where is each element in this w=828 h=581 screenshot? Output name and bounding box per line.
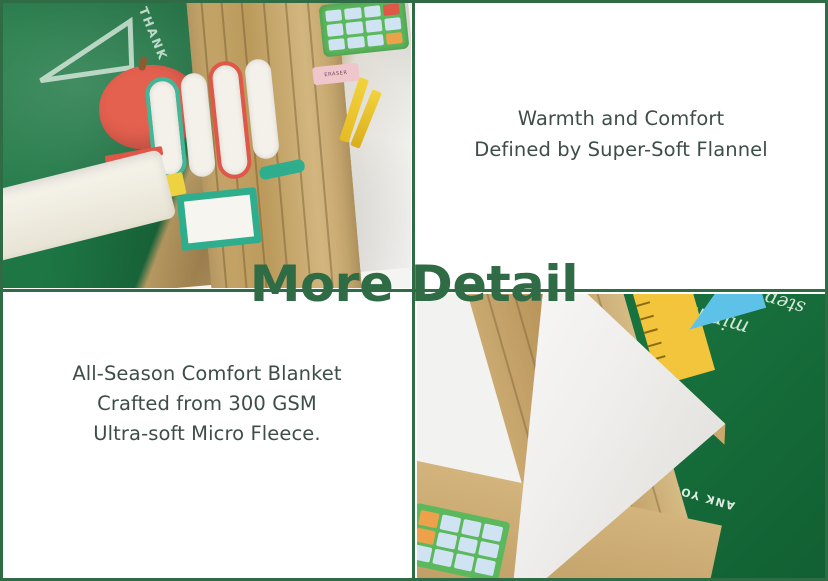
calculator-graphic [319, 3, 410, 57]
blanket-flatlay-photo: THANK ERASER [3, 3, 411, 288]
product-detail-poster: THANK ERASER [0, 0, 828, 581]
divider-horizontal [3, 289, 825, 292]
bottom-left-line-1: All-Season Comfort Blanket [72, 359, 341, 389]
text-panel-bottom-left: All-Season Comfort Blanket Crafted from … [3, 294, 411, 578]
text-panel-top-right: Warmth and Comfort Defined by Super-Soft… [417, 3, 825, 288]
photo-panel-bottom-right: minds step sh ANK YOU FOR HE [417, 294, 825, 578]
photo-panel-top-left: THANK ERASER [3, 3, 411, 288]
eraser-label: ERASER [324, 70, 348, 78]
bottom-left-line-2: Crafted from 300 GSM [97, 389, 317, 419]
notebook-graphic [176, 187, 261, 251]
top-right-line-1: Warmth and Comfort [518, 104, 725, 134]
top-right-line-2: Defined by Super-Soft Flannel [474, 135, 768, 165]
bottom-left-line-3: Ultra-soft Micro Fleece. [93, 419, 320, 449]
blanket-folded-corner-photo: minds step sh ANK YOU FOR HE [417, 294, 825, 578]
